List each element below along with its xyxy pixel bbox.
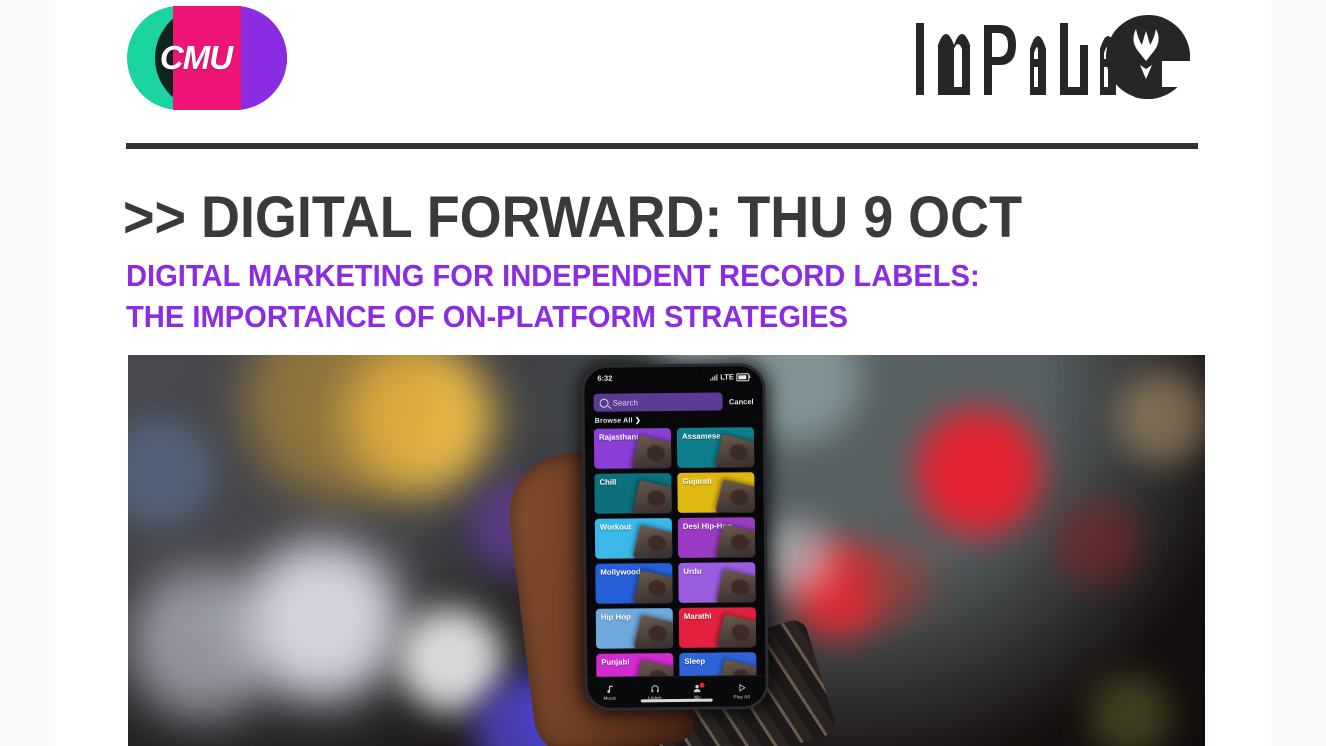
navbar-item[interactable]: Listen [648, 684, 662, 700]
signal-bars-icon [710, 374, 718, 380]
statusbar-network: LTE [720, 372, 734, 381]
header-divider [126, 143, 1198, 149]
category-tile-artwork [716, 524, 756, 558]
navbar-item[interactable]: Music [603, 685, 616, 701]
smartphone: 6:32 LTE Search Cancel Browse All ❯ Raja… [581, 363, 769, 711]
page-title: >> DIGITAL FORWARD: THU 9 OCT [123, 188, 1165, 249]
category-tile-label: Sleep [684, 657, 705, 666]
statusbar-time: 6:32 [597, 374, 612, 383]
category-tile-label: Gujarati [682, 477, 712, 486]
category-tile-label: Mollywood [600, 567, 640, 576]
category-tile[interactable]: Urdu [678, 562, 755, 603]
cancel-button[interactable]: Cancel [729, 397, 754, 406]
bokeh-light [1055, 501, 1139, 585]
battery-icon [736, 373, 749, 381]
search-input[interactable]: Search [593, 392, 723, 411]
category-tile[interactable]: Chill [594, 473, 671, 514]
music-note-icon [605, 685, 614, 694]
category-tile[interactable]: Assamese [677, 427, 754, 468]
category-tile-label: Workout [600, 522, 632, 531]
cmu-logo: CMU [127, 6, 287, 110]
category-tile[interactable]: Workout [595, 518, 672, 559]
hero-photo: 6:32 LTE Search Cancel Browse All ❯ Raja… [128, 355, 1205, 746]
play-icon [737, 683, 746, 692]
bokeh-light [758, 520, 834, 596]
navbar-item[interactable]: My [693, 684, 702, 700]
category-tile-artwork [633, 525, 673, 559]
bottom-navbar: MusicListenMyPlay All [587, 675, 765, 708]
navbar-item-label: Play All [733, 694, 749, 699]
slide-page: CMU [55, 0, 1271, 746]
page-subtitle: DIGITAL MARKETING FOR INDEPENDENT RECORD… [126, 256, 1179, 338]
bokeh-light [854, 543, 932, 621]
headphones-icon [650, 684, 659, 693]
category-tile-label: Urdu [683, 567, 701, 576]
category-grid: RajasthaniAssameseChillGujaratiWorkoutDe… [594, 427, 757, 694]
cmu-logo-wordmark: CMU [127, 6, 287, 110]
category-tile-label: Marathi [684, 612, 712, 621]
category-tile-artwork [632, 480, 672, 514]
category-tile-artwork [716, 569, 756, 603]
category-tile-label: Assamese [682, 432, 721, 441]
category-tile[interactable]: Rajasthani [594, 428, 671, 469]
notification-badge [700, 683, 705, 688]
phone-notch [647, 369, 699, 379]
category-tile[interactable]: Mollywood [595, 563, 672, 604]
person-icon [693, 684, 702, 693]
search-icon [600, 398, 609, 407]
category-tile-artwork [715, 434, 755, 468]
category-tile-label: Punjabi [601, 657, 629, 666]
category-tile[interactable]: Hip Hop [596, 608, 673, 649]
category-tile-artwork [632, 435, 672, 469]
search-row[interactable]: Search Cancel [593, 392, 753, 412]
category-tile-artwork [633, 570, 673, 604]
category-tile[interactable]: Marathi [679, 607, 756, 648]
category-tile-artwork [634, 615, 674, 649]
bokeh-light [1116, 372, 1205, 464]
browse-all-link[interactable]: Browse All ❯ [595, 416, 641, 424]
bokeh-light [128, 569, 278, 719]
category-tile-artwork [715, 479, 755, 513]
impala-logo [904, 5, 1193, 110]
bokeh-light [1089, 674, 1171, 746]
header: CMU [55, 0, 1271, 130]
search-placeholder: Search [613, 398, 638, 407]
category-tile-artwork [717, 614, 757, 648]
category-tile-label: Hip Hop [601, 612, 631, 621]
bokeh-light [916, 409, 1042, 535]
navbar-item[interactable]: Play All [733, 683, 750, 699]
category-tile-label: Chill [599, 478, 616, 487]
navbar-item-label: Music [603, 696, 616, 701]
category-tile-label: Rajasthani [599, 432, 639, 441]
category-tile[interactable]: Desi Hip-Hop [678, 517, 755, 558]
category-tile[interactable]: Gujarati [677, 472, 754, 513]
